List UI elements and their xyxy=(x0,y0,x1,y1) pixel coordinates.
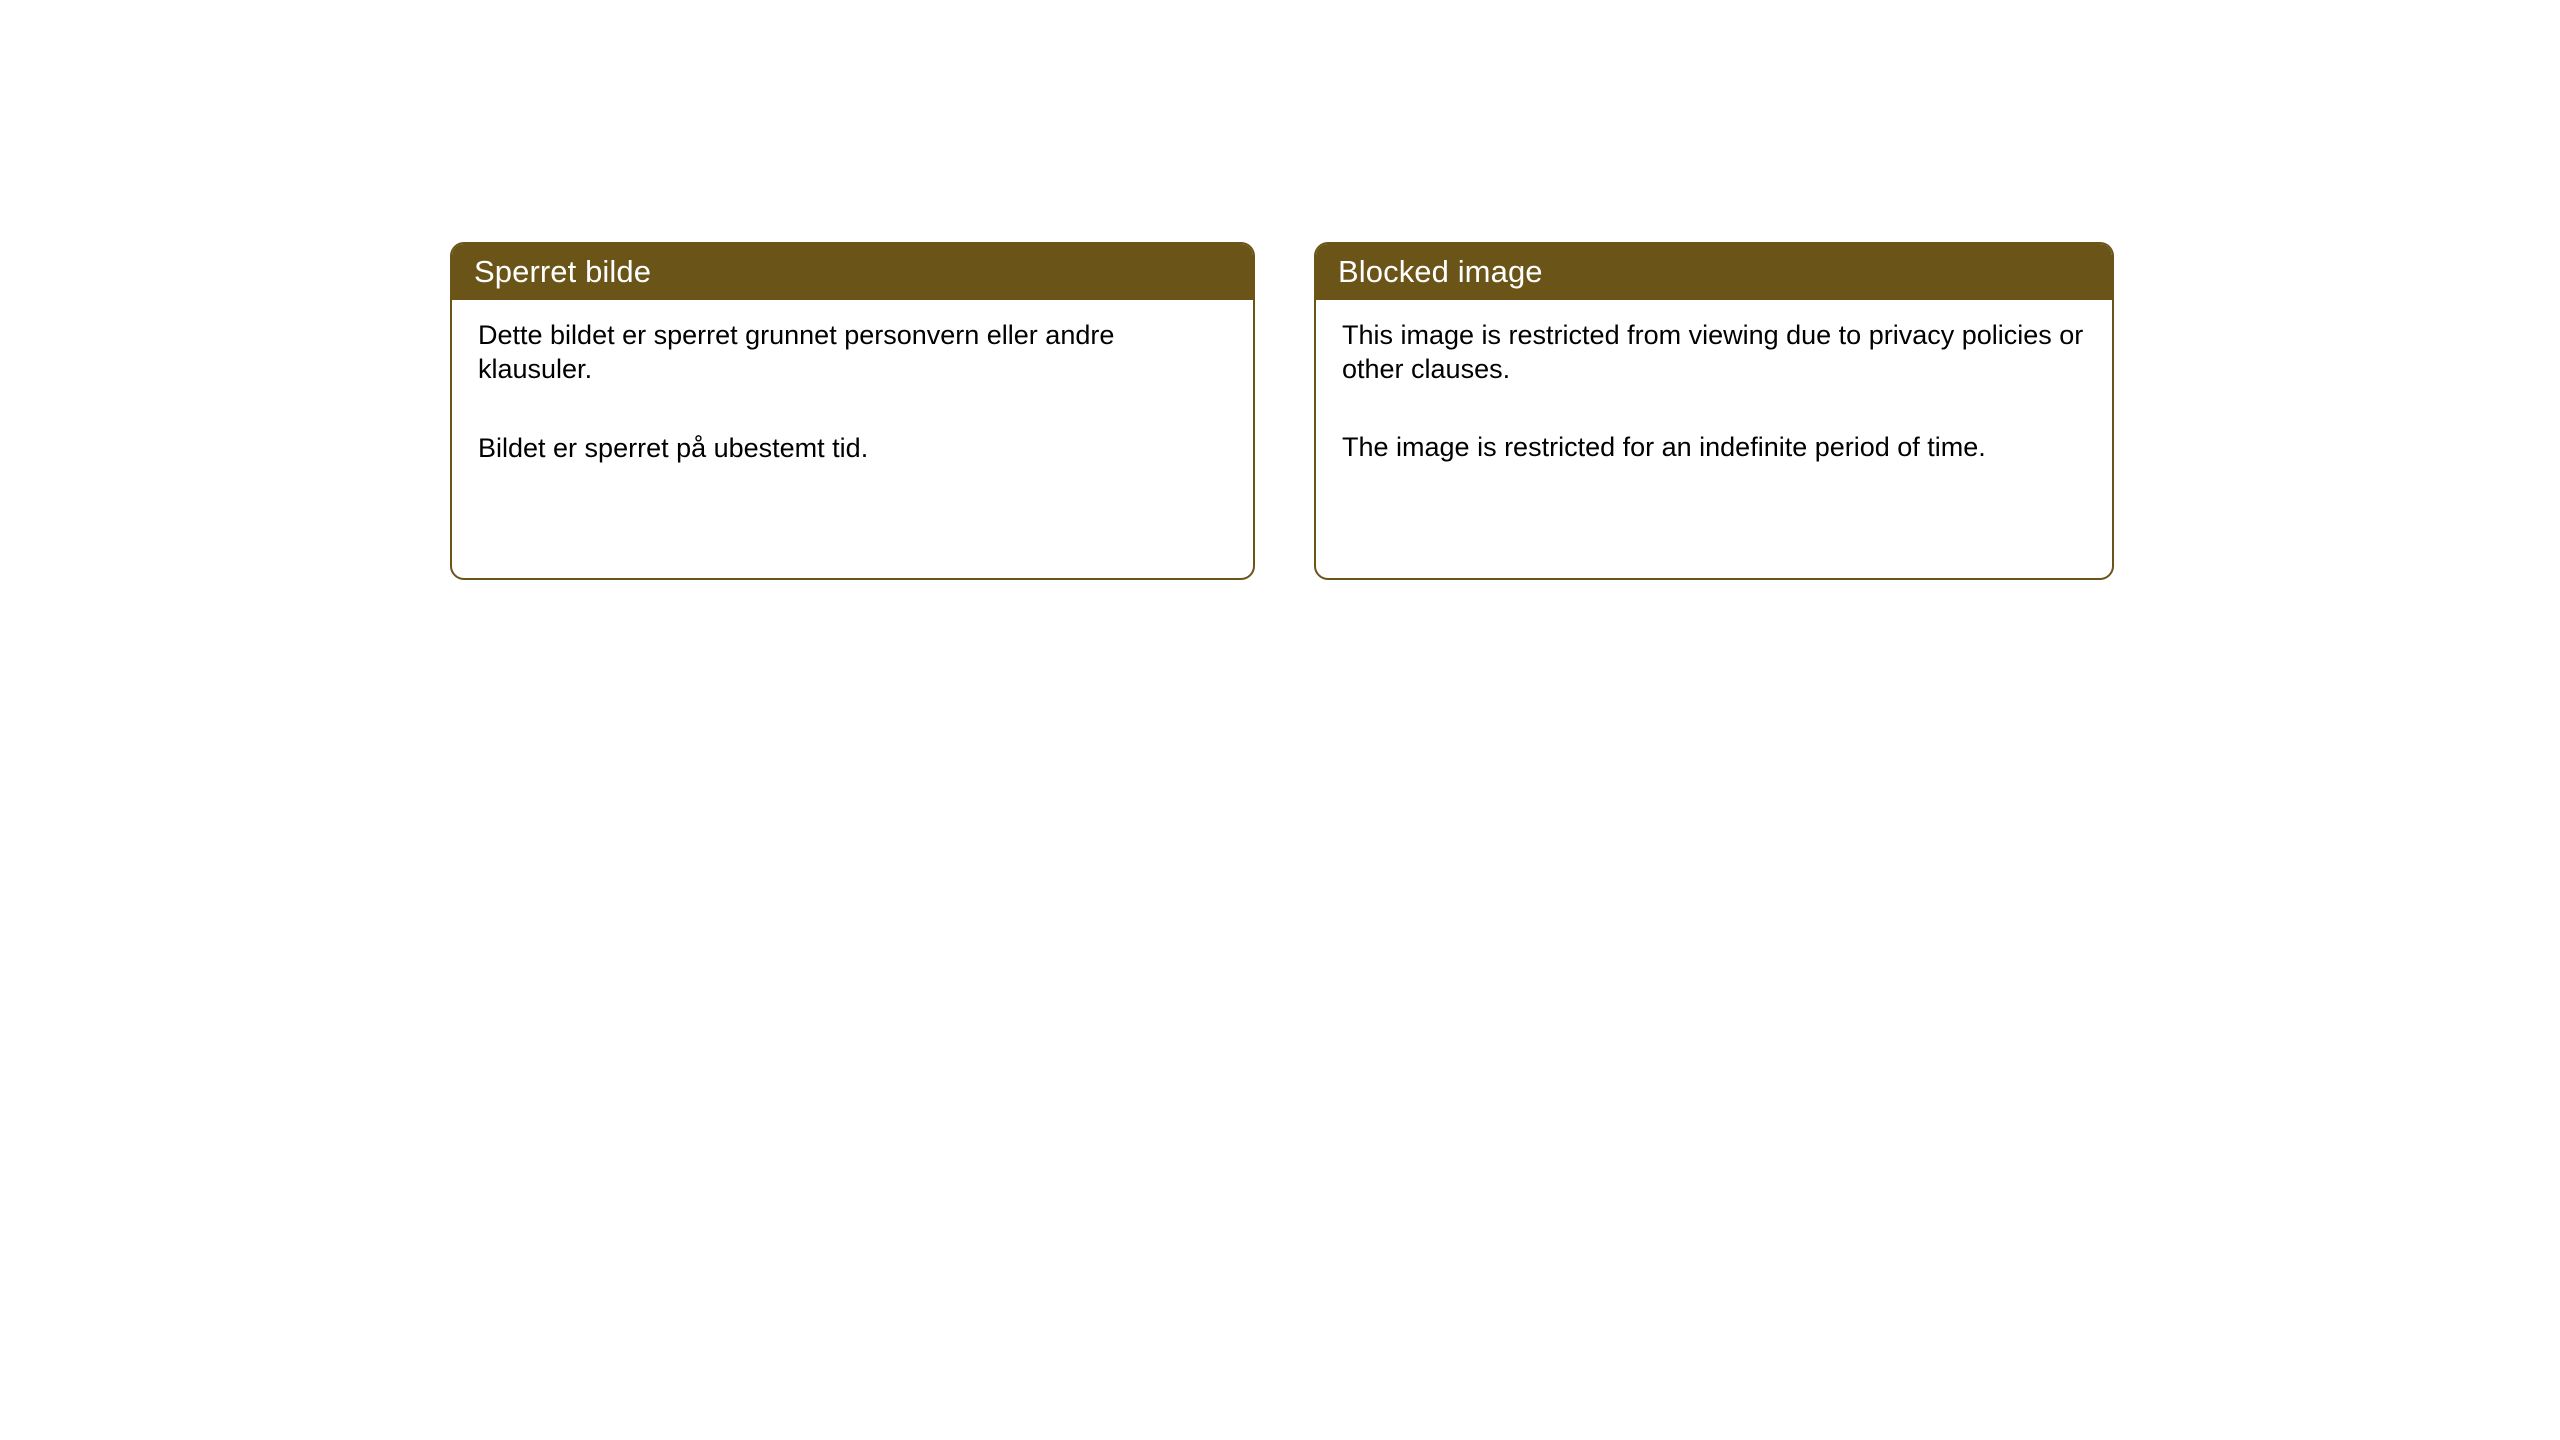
blocked-image-notice-norwegian: Sperret bilde Dette bildet er sperret gr… xyxy=(450,242,1255,580)
notice-header-norwegian: Sperret bilde xyxy=(450,242,1255,300)
notice-paragraph-primary-norwegian: Dette bildet er sperret grunnet personve… xyxy=(478,318,1227,386)
notice-body-english: This image is restricted from viewing du… xyxy=(1316,300,2112,464)
blocked-image-notice-english: Blocked image This image is restricted f… xyxy=(1314,242,2114,580)
notice-title-english: Blocked image xyxy=(1338,256,1543,287)
notice-title-norwegian: Sperret bilde xyxy=(474,256,651,287)
notice-paragraph-secondary-norwegian: Bildet er sperret på ubestemt tid. xyxy=(478,431,1227,465)
notice-paragraph-primary-english: This image is restricted from viewing du… xyxy=(1342,318,2086,386)
page-root: Sperret bilde Dette bildet er sperret gr… xyxy=(0,0,2560,1440)
notice-paragraph-secondary-english: The image is restricted for an indefinit… xyxy=(1342,430,2086,464)
notice-header-english: Blocked image xyxy=(1314,242,2114,300)
notice-body-norwegian: Dette bildet er sperret grunnet personve… xyxy=(452,300,1253,465)
